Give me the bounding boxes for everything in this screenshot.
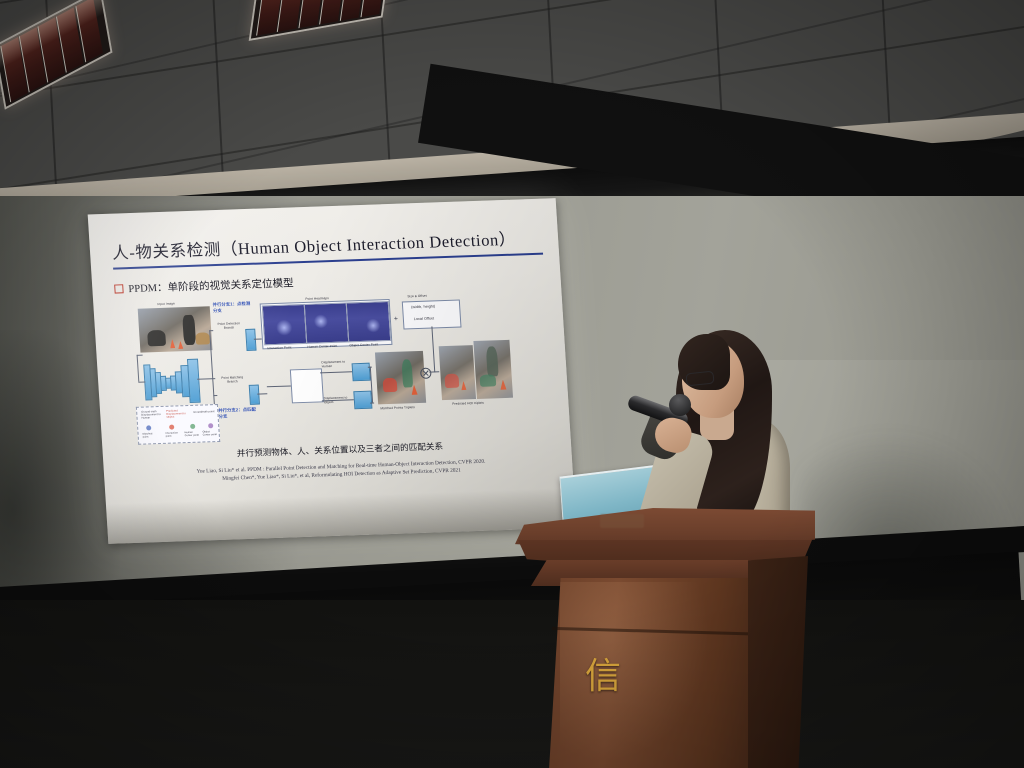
diagram-label-matched-points-triplets: Matched Points Triplets	[380, 405, 415, 410]
legend-item-2: Groundtruth point	[193, 410, 215, 414]
diagram-annotation-branch2: 并行分支2：点匹配分支	[218, 406, 261, 419]
backbone-feature-map	[187, 358, 201, 402]
ppdm-architecture-diagram: Input Image	[115, 288, 554, 449]
diagram-operator-product	[420, 367, 432, 378]
diagram-operator-plus: +	[394, 315, 399, 322]
legend-item-1: Predicted Displacement to Object	[166, 409, 189, 419]
heatmap-interaction-point	[262, 304, 308, 345]
diagram-label-displacement-to-human: Displacement to Human	[321, 359, 351, 368]
diagram-label-heatmap-1: Human Center Point	[307, 343, 337, 348]
diagram-label-predicted-hoi-triplets: Predicted HOI triplets	[452, 400, 484, 405]
matched-points-triplets-image	[375, 350, 426, 404]
input-image-thumbnail	[138, 306, 213, 352]
displacement-object-map	[353, 390, 372, 409]
podium-gold-character: 信	[585, 655, 625, 701]
displacement-box	[290, 368, 324, 403]
slide-title: 人-物关系检测（Human Object Interaction Detecti…	[111, 225, 542, 264]
podium-top-marking	[600, 514, 644, 528]
heatmap-object-center-point	[346, 301, 392, 342]
diagram-label-width-height: (width, height)	[411, 304, 435, 309]
heatmap-human-center-point	[304, 302, 350, 343]
podium-side-panel	[748, 556, 808, 768]
legend-item-5: Human Center point	[184, 430, 200, 437]
detection-head-block	[245, 328, 256, 350]
displacement-human-map	[352, 362, 371, 381]
matching-head-block	[249, 384, 260, 404]
podium-highlight	[560, 582, 710, 762]
projection-screen: 人-物关系检测（Human Object Interaction Detecti…	[88, 198, 577, 544]
predicted-hoi-image-right	[473, 339, 513, 398]
legend-item-6: Object Center point	[202, 430, 218, 437]
legend-item-0: Ground-truth Displacement to Human	[141, 409, 164, 419]
floor-foreground	[0, 600, 1024, 768]
lecture-hall-photo: 人-物关系检测（Human Object Interaction Detecti…	[0, 0, 1024, 768]
diagram-label-input-image: Input Image	[157, 301, 175, 306]
diagram-label-heatmap-0: Interaction Point	[267, 345, 291, 350]
diagram-label-point-matching-branch: Point Matching Branch	[216, 375, 248, 384]
diagram-label-heatmap-2: Object Center Point	[349, 342, 378, 347]
legend-item-4: Interaction point	[165, 431, 179, 437]
diagram-label-size-offset: Size & Offset	[407, 293, 427, 298]
diagram-annotation-branch1: 并行分支1：点检测分支	[212, 300, 255, 313]
diagram-label-point-detection-branch: Point Detection Branch	[213, 321, 245, 330]
bullet-square-icon	[114, 284, 124, 293]
legend-item-3: Matched point	[142, 432, 156, 438]
diagram-label-local-offset: Local Offset	[414, 316, 435, 321]
diagram-legend: Ground-truth Displacement to Human Predi…	[136, 404, 220, 445]
predicted-hoi-image-left	[439, 345, 476, 400]
slide-bullet-label: PPDM：单阶段的视觉关系定位模型	[128, 275, 294, 296]
